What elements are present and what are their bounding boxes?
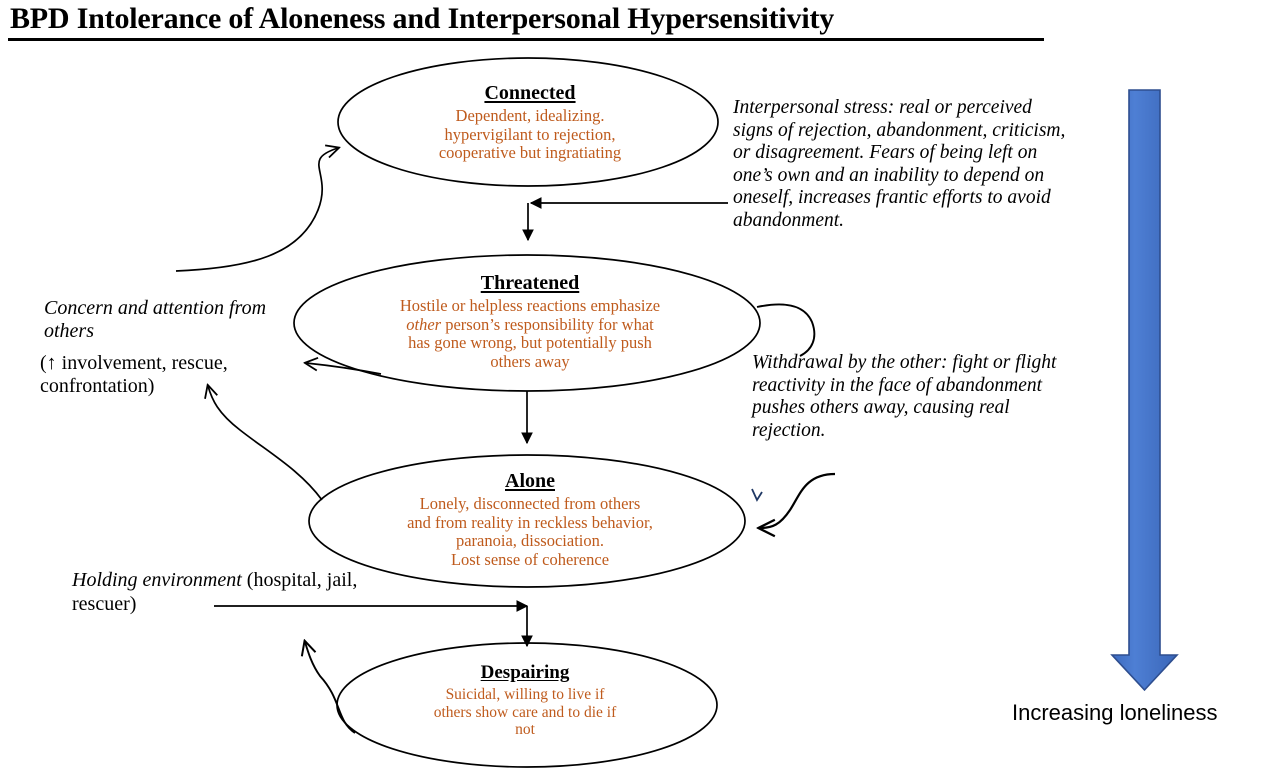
node-despairing-line-2: others show care and to die if [375, 704, 675, 721]
node-connected-line-2: hypervigilant to rejection, [360, 126, 700, 144]
annotation-involvement-rescue-confrontation: (↑ involvement, rescue, confrontation) [40, 352, 310, 398]
node-threatened-line-3: has gone wrong, but potentially push [330, 334, 730, 352]
node-alone-line-4: Lost sense of coherence [335, 551, 725, 569]
arrow-withdrawal-into-alone [760, 474, 835, 528]
annotation-withdrawal: Withdrawal by the other: fight or flight… [752, 352, 1082, 442]
node-connected-line-1: Dependent, idealizing. [360, 107, 700, 125]
diagram-page: BPD Intolerance of Aloneness and Interpe… [0, 0, 1280, 768]
annotation-holding-italic: Holding environment [72, 569, 242, 591]
node-threatened-line-2: other person’s responsibility for what [330, 316, 730, 334]
node-connected[interactable]: Connected Dependent, idealizing. hypervi… [360, 82, 700, 163]
node-threatened-title: Threatened [330, 272, 730, 294]
node-threatened-line-4: others away [330, 353, 730, 371]
node-connected-title: Connected [360, 82, 700, 104]
increasing-loneliness-label: Increasing loneliness [1012, 700, 1217, 726]
node-threatened-line-1: Hostile or helpless reactions emphasize [330, 297, 730, 315]
node-connected-line-3: cooperative but ingratiating [360, 144, 700, 162]
node-alone-line-3: paranoia, dissociation. [335, 532, 725, 550]
node-threatened[interactable]: Threatened Hostile or helpless reactions… [330, 272, 730, 371]
arrow-alone-to-concern [208, 386, 322, 500]
node-alone-title: Alone [335, 470, 725, 492]
annotation-holding-environment: Holding environment (hospital, jail, res… [72, 568, 412, 616]
node-despairing-title: Despairing [375, 662, 675, 683]
annotation-concern-and-attention: Concern and attention from others [44, 297, 314, 343]
arrow-recovery-to-connected [176, 148, 338, 271]
node-alone[interactable]: Alone Lonely, disconnected from others a… [335, 470, 725, 569]
node-alone-line-2: and from reality in reckless behavior, [335, 514, 725, 532]
node-despairing-line-1: Suicidal, willing to live if [375, 686, 675, 703]
arrow-despairing-escape [305, 642, 355, 733]
node-despairing[interactable]: Despairing Suicidal, willing to live if … [375, 662, 675, 738]
arrow-threatened-withdrawal-loop [757, 304, 814, 356]
increasing-loneliness-arrow [1112, 90, 1177, 690]
node-threatened-line-2-rest: person’s responsibility for what [441, 315, 654, 334]
annotation-interpersonal-stress: Interpersonal stress: real or perceived … [733, 97, 1073, 233]
node-alone-line-1: Lonely, disconnected from others [335, 495, 725, 513]
node-despairing-line-3: not [375, 721, 675, 738]
chevron-mark-alone [752, 489, 762, 500]
node-threatened-italic-word: other [406, 315, 441, 334]
